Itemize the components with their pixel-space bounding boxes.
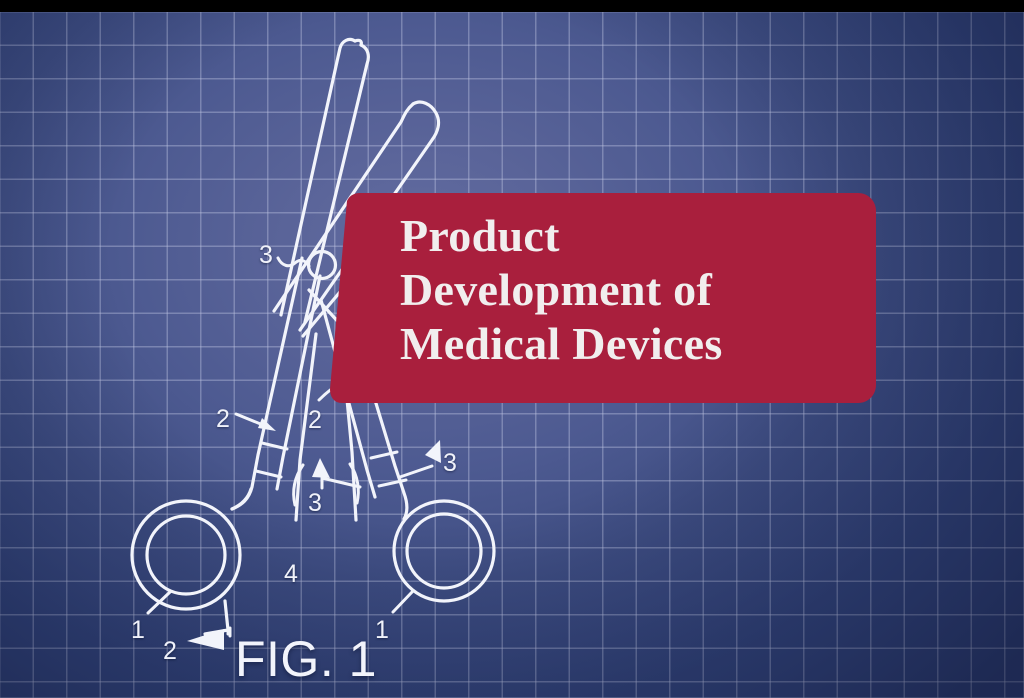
left-finger-ring-inner <box>147 516 225 594</box>
right-finger-ring-outer <box>394 501 494 601</box>
arrowhead-left-tang <box>187 629 224 650</box>
callout-label-2-left-tang: 2 <box>163 639 177 664</box>
callout-label-2-left: 2 <box>216 407 230 432</box>
callout-label-3-right-neck: 3 <box>443 451 457 476</box>
left-ring-stub <box>205 601 228 634</box>
arrowhead-left-neck <box>312 458 330 478</box>
blueprint-cover-image: 3 2 2 3 3 4 1 2 1 FIG. 1 Product Develop… <box>0 0 1024 698</box>
title-banner: Product Development of Medical Devices <box>330 193 876 403</box>
leader-right-neck <box>400 466 432 477</box>
banner-title-line-1: Product <box>400 209 870 263</box>
right-finger-ring-inner <box>407 514 481 588</box>
callout-label-4-handle: 4 <box>284 562 298 587</box>
banner-title-line-3: Medical Devices <box>400 317 870 371</box>
figure-caption: FIG. 1 <box>235 634 377 684</box>
banner-title-line-2: Development of <box>400 263 870 317</box>
banner-title: Product Development of Medical Devices <box>400 209 870 370</box>
left-shank-collar-bottom <box>256 471 281 477</box>
arrowhead-right-neck <box>425 440 441 463</box>
left-shank-collar <box>262 443 287 449</box>
callout-label-2-inner: 2 <box>308 408 322 433</box>
callout-label-3-pivot: 3 <box>259 243 273 268</box>
callout-label-3-left-neck: 3 <box>308 491 322 516</box>
leader-right-ring <box>393 591 413 612</box>
left-shank-outer <box>232 258 302 509</box>
callout-label-1-right-ring: 1 <box>375 618 389 643</box>
callout-label-1-left-ring: 1 <box>131 618 145 643</box>
left-blade-tip <box>355 40 361 45</box>
